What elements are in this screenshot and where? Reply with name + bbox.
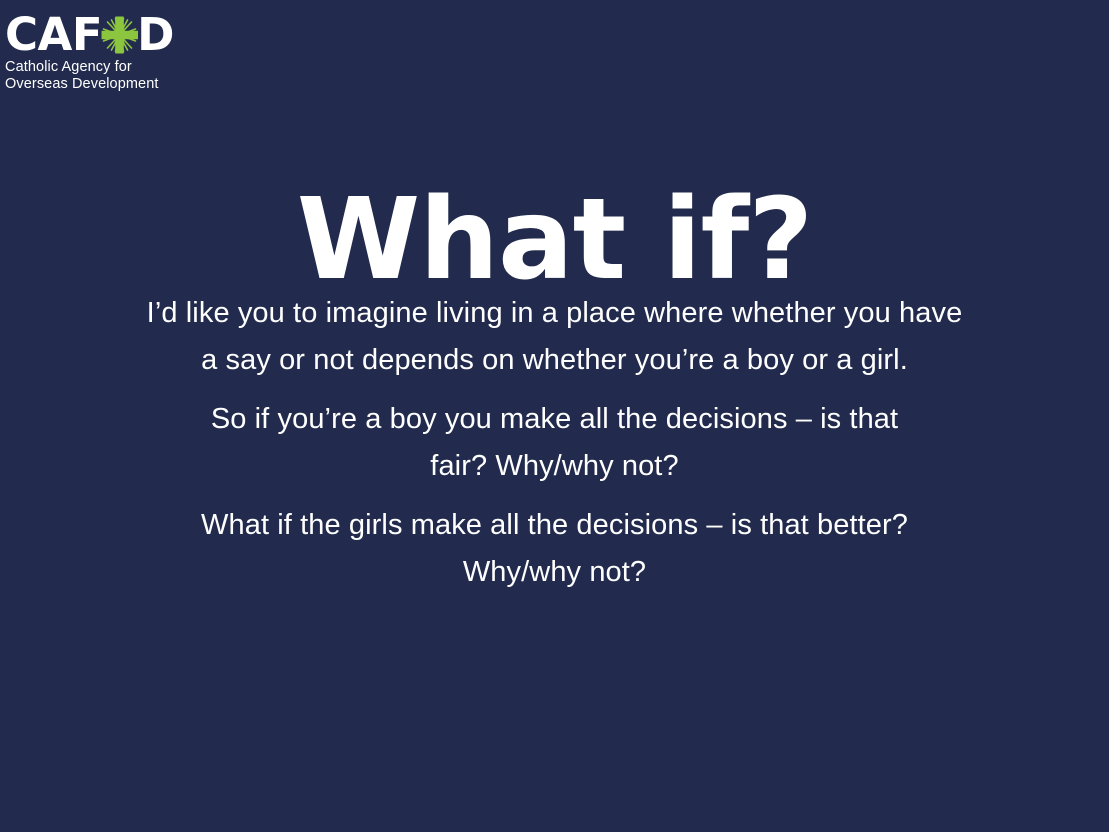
slide-canvas: CAF [0,0,1109,832]
body-paragraph: I’d like you to imagine living in a plac… [135,290,975,384]
logo-wordmark: CAF [5,12,185,56]
slide-body: I’d like you to imagine living in a plac… [125,290,985,596]
logo-letters-before: CAF [5,12,102,57]
body-paragraph: So if you’re a boy you make all the deci… [185,396,925,490]
cafod-sunburst-cross-icon [101,14,138,54]
body-paragraph: What if the girls make all the decisions… [145,502,965,596]
logo-letters-after: D [137,12,174,57]
logo-tagline: Catholic Agency for Overseas Development [5,59,185,93]
cafod-logo: CAF [5,12,185,93]
slide-title: What if? [0,179,1109,302]
